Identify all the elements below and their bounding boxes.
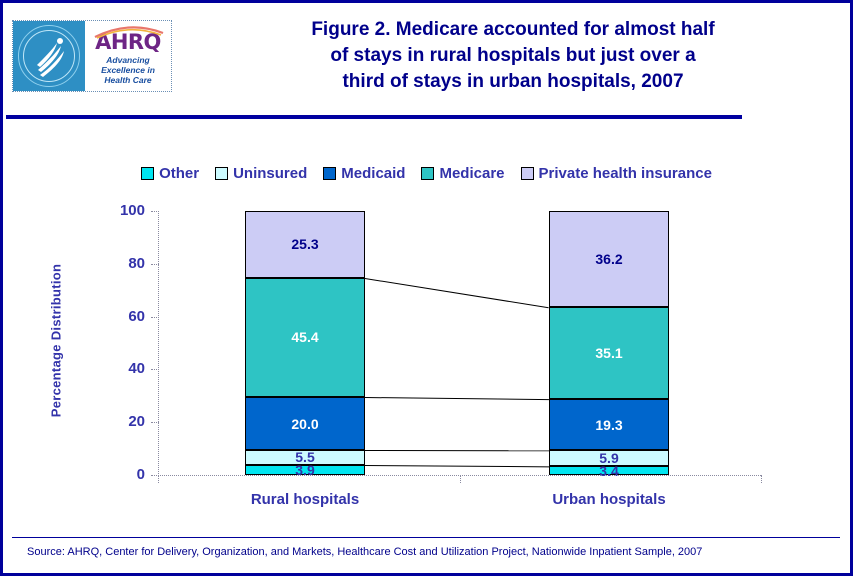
bar-segment-medicare[interactable]: 45.4: [245, 278, 365, 398]
stacked-bar-rural-hospitals[interactable]: 3.95.520.045.425.3: [245, 211, 365, 475]
y-tick-label: 100: [103, 204, 145, 218]
y-tick-label: 60: [103, 310, 145, 324]
y-axis-line: [158, 211, 159, 476]
bar-segment-uninsured[interactable]: 5.5: [245, 450, 365, 465]
bar-segment-value: 45.4: [291, 330, 318, 344]
x-tick-mark: [460, 475, 461, 483]
y-tick-mark: [151, 422, 159, 423]
bar-segment-medicare[interactable]: 35.1: [549, 307, 669, 400]
y-axis-tick-labels: 020406080100: [95, 3, 145, 573]
y-tick-mark: [151, 317, 159, 318]
x-category-label: Urban hospitals: [499, 491, 719, 508]
y-tick-label: 20: [103, 415, 145, 429]
bar-segment-other[interactable]: 3.4: [549, 466, 669, 475]
y-axis-title: Percentage Distribution: [49, 241, 64, 441]
connector-line: [365, 465, 549, 467]
bar-segment-value: 36.2: [595, 252, 622, 266]
connector-line: [365, 397, 549, 400]
bar-segment-value: 5.9: [599, 451, 618, 465]
chart-plot-area: Percentage Distribution 020406080100 3.9…: [3, 3, 850, 573]
connector-line: [365, 450, 549, 451]
y-tick-label: 80: [103, 257, 145, 271]
bar-segment-value: 35.1: [595, 346, 622, 360]
bar-segment-medicaid[interactable]: 19.3: [549, 399, 669, 450]
bar-segment-value: 5.5: [295, 450, 314, 464]
connector-line: [365, 278, 549, 308]
bar-segment-medicaid[interactable]: 20.0: [245, 397, 365, 450]
bar-segment-uninsured[interactable]: 5.9: [549, 450, 669, 466]
bar-segment-private-health-insurance[interactable]: 25.3: [245, 211, 365, 278]
x-tick-mark: [761, 475, 762, 483]
figure-container: AHRQ Advancing Excellence in Health Care…: [0, 0, 853, 576]
y-tick-mark: [151, 211, 159, 212]
x-tick-mark: [158, 475, 159, 483]
source-divider: [12, 537, 840, 538]
bar-segment-value: 19.3: [595, 418, 622, 432]
bar-segment-other[interactable]: 3.9: [245, 465, 365, 475]
bar-segment-value: 25.3: [291, 237, 318, 251]
bar-segment-private-health-insurance[interactable]: 36.2: [549, 211, 669, 307]
stacked-bar-urban-hospitals[interactable]: 3.45.919.335.136.2: [549, 211, 669, 475]
y-tick-label: 40: [103, 362, 145, 376]
source-note: Source: AHRQ, Center for Delivery, Organ…: [27, 545, 837, 559]
bar-segment-value: 20.0: [291, 417, 318, 431]
y-tick-mark: [151, 264, 159, 265]
x-category-label: Rural hospitals: [195, 491, 415, 508]
y-tick-label: 0: [103, 468, 145, 482]
y-tick-mark: [151, 369, 159, 370]
